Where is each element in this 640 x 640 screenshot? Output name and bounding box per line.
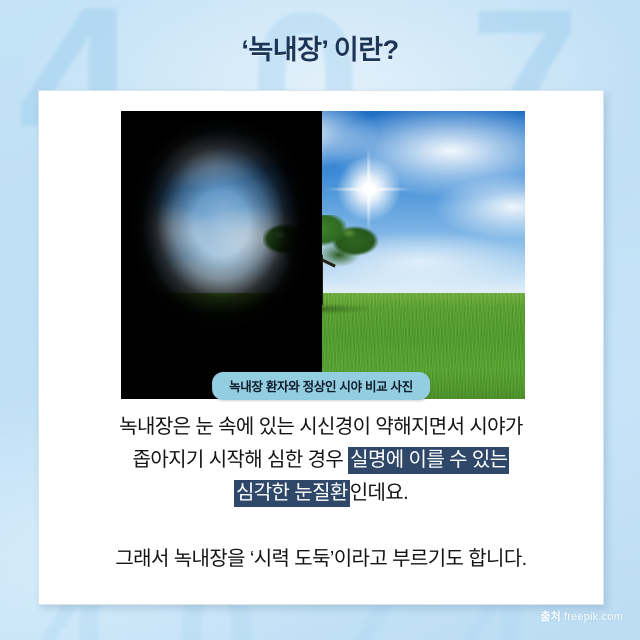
highlighted-text: 실명에 이를 수 있는 [348,447,509,474]
highlighted-text: 심각한 눈질환 [234,480,350,507]
paragraph-nickname: 그래서 녹내장을 ‘시력 도둑’이라고 부르기도 합니다. [39,543,603,576]
slide-root: 4 0 7 4 0 7 4 ‘녹내장’ 이란? [0,0,640,640]
text-line: 좁아지기 시작해 심한 경우 [133,449,349,471]
vision-comparison-photo [121,111,525,399]
source-credit: 출처freepik.com [540,608,623,624]
glaucoma-edge-darkening [121,111,322,399]
text-line: 그래서 녹내장을 ‘시력 도둑’이라고 부르기도 합니다. [115,548,526,570]
source-label: 출처 [540,611,561,623]
page-title: ‘녹내장’ 이란? [0,28,640,67]
source-name: freepik.com [564,611,623,623]
content-card: 녹내장 환자와 정상인 시야 비교 사진 녹내장은 눈 속에 있는 시신경이 약… [38,90,604,605]
paragraph-definition: 녹내장은 눈 속에 있는 시신경이 약해지면서 시야가 좁아지기 시작해 심한 … [39,411,603,510]
text-line: 녹내장은 눈 속에 있는 시신경이 약해지면서 시야가 [119,416,523,438]
scene-normal [322,111,525,399]
photo-panel-normal [322,111,525,399]
body-text: 녹내장은 눈 속에 있는 시신경이 약해지면서 시야가 좁아지기 시작해 심한 … [39,411,603,576]
text-line: 인데요. [350,482,408,504]
sun-icon [335,155,403,223]
tree-trunk [322,255,323,305]
photo-caption-badge: 녹내장 환자와 정상인 시야 비교 사진 [212,372,430,400]
photo-panel-glaucoma [121,111,322,399]
tree-icon [322,215,379,307]
